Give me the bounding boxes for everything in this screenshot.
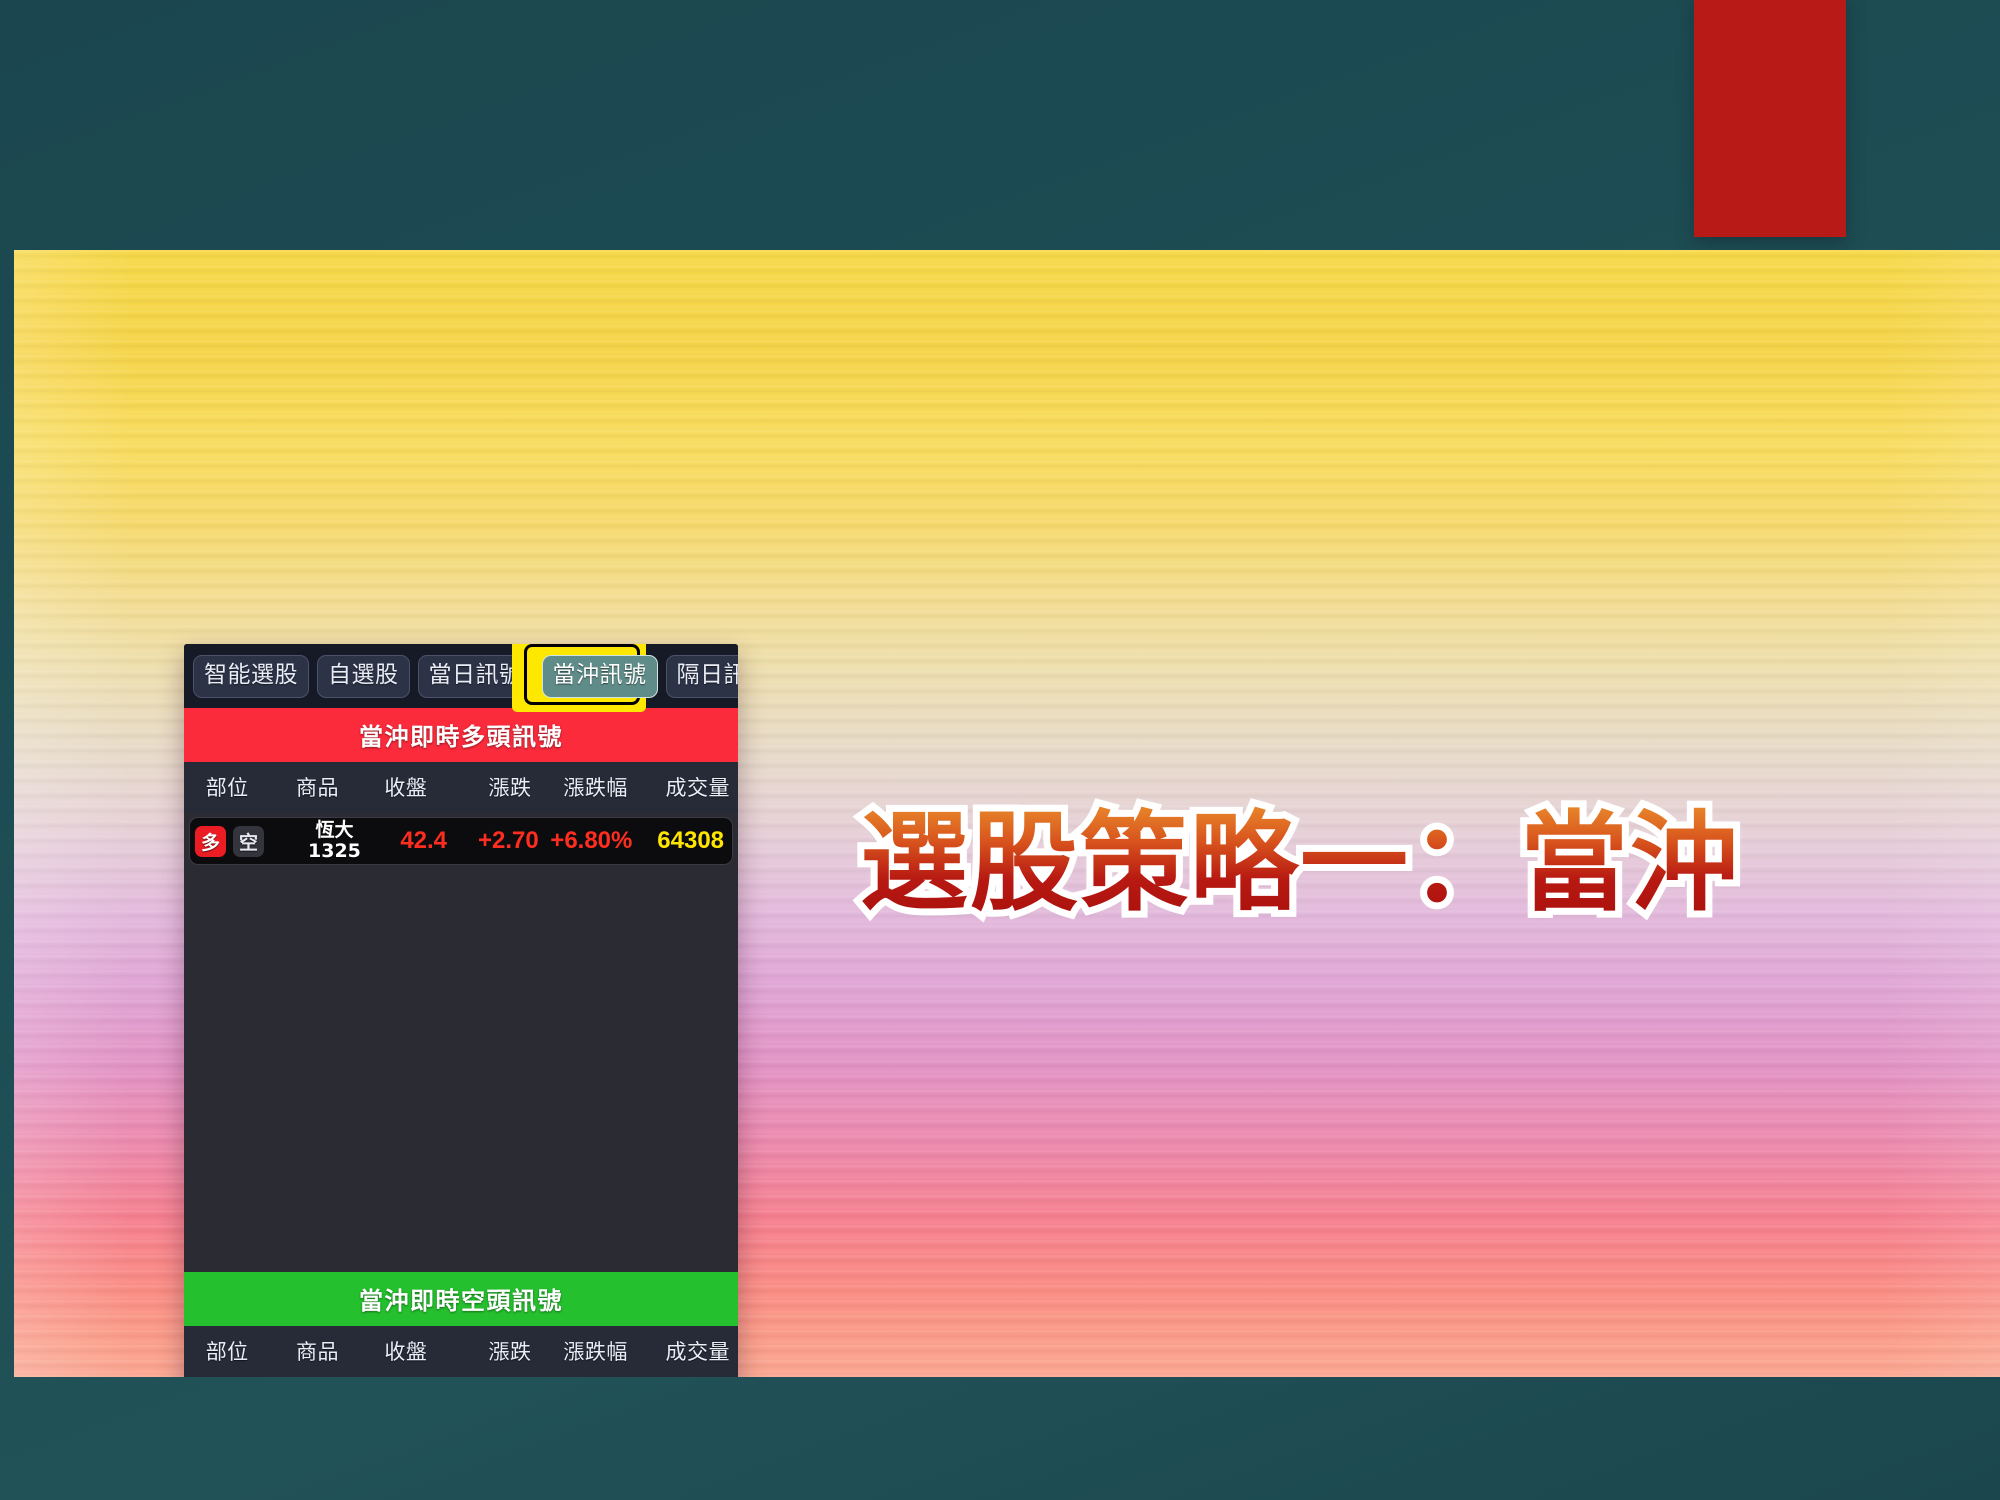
column-header-close: 收盤 (365, 1336, 447, 1366)
tab-daytrade-signal[interactable]: 當沖訊號 (542, 655, 658, 698)
long-section-banner: 當沖即時多頭訊號 (184, 708, 738, 762)
column-header-volume: 成交量 (632, 1336, 738, 1366)
column-header-position: 部位 (184, 1336, 270, 1366)
presentation-canvas: 選股策略一：當沖 選股策略一：當沖 智能選股 自選股 當日訊號 當沖訊號 隔日訊… (0, 0, 2000, 1500)
column-header-change: 漲跌 (447, 772, 537, 802)
slide: 選股策略一：當沖 選股策略一：當沖 智能選股 自選股 當日訊號 當沖訊號 隔日訊… (14, 250, 2000, 1377)
volume: 64308 (634, 827, 732, 855)
stock-signal-app-panel: 智能選股 自選股 當日訊號 當沖訊號 隔日訊號 當沖即時多頭訊號 部位 商品 收… (184, 644, 738, 1377)
short-column-headers: 部位 商品 收盤 漲跌 漲跌幅 成交量 (184, 1326, 738, 1377)
column-header-change: 漲跌 (447, 1336, 537, 1366)
price-change-percent: +6.80% (543, 827, 635, 855)
tab-smart-pick[interactable]: 智能選股 (193, 655, 309, 698)
long-badge[interactable]: 多 (195, 826, 226, 857)
column-header-change-pct: 漲跌幅 (538, 772, 632, 802)
column-header-close: 收盤 (365, 772, 447, 802)
product-code: 1325 (296, 841, 374, 862)
column-header-product: 商品 (270, 1336, 364, 1366)
position-toggle-group[interactable]: 多 空 (190, 826, 278, 857)
close-price: 42.4 (373, 827, 457, 855)
short-section-banner: 當沖即時空頭訊號 (184, 1272, 738, 1326)
table-row[interactable]: 多 空 恆大 1325 42.4 +2.70 +6.80% 64308 (189, 817, 733, 865)
price-change: +2.70 (457, 827, 543, 855)
tab-watchlist[interactable]: 自選股 (317, 655, 410, 698)
column-header-change-pct: 漲跌幅 (538, 1336, 632, 1366)
column-header-volume: 成交量 (632, 772, 738, 802)
tab-bar: 智能選股 自選股 當日訊號 當沖訊號 隔日訊號 (184, 644, 738, 708)
column-header-position: 部位 (184, 772, 270, 802)
page-title: 選股策略一：當沖 (860, 806, 1740, 923)
tab-nextday-signal[interactable]: 隔日訊號 (666, 655, 739, 698)
short-badge[interactable]: 空 (233, 826, 264, 857)
product-name: 恆大 (296, 821, 374, 841)
column-header-product: 商品 (270, 772, 364, 802)
long-column-headers: 部位 商品 收盤 漲跌 漲跌幅 成交量 (184, 762, 738, 813)
long-signal-list: 多 空 恆大 1325 42.4 +2.70 +6.80% 64308 (184, 813, 738, 1272)
product-cell: 恆大 1325 (296, 821, 374, 862)
decorative-red-block (1694, 0, 1846, 237)
